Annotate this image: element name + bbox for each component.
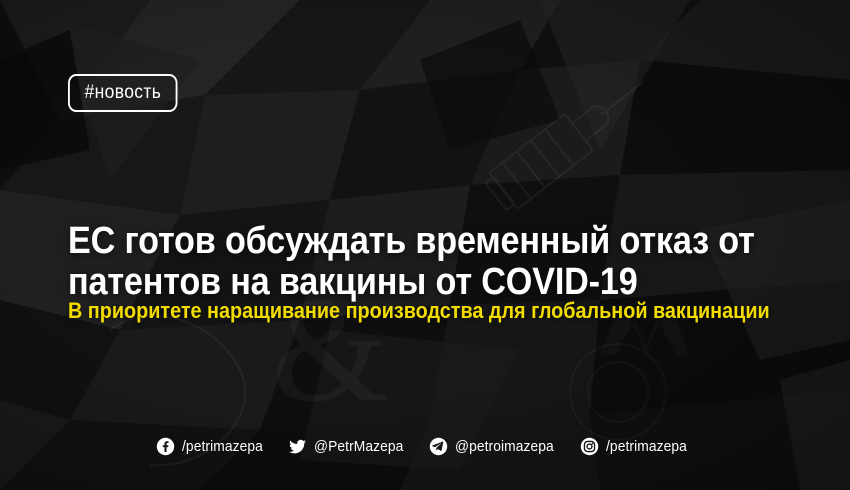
instagram-icon (580, 437, 599, 456)
subtitle: В приоритете наращивание производства дл… (68, 298, 770, 324)
social-item-facebook[interactable]: /petrimazepa (156, 437, 270, 456)
telegram-icon (429, 437, 448, 456)
social-item-telegram[interactable]: @petroimazepa (429, 437, 562, 456)
social-item-instagram[interactable]: /petrimazepa (580, 437, 694, 456)
facebook-icon (156, 437, 175, 456)
twitter-icon (288, 437, 307, 456)
social-handle-telegram: @petroimazepa (455, 438, 554, 455)
page-title: ЕС готов обсуждать временный отказ от па… (68, 221, 725, 303)
category-tag[interactable]: #новость (68, 74, 178, 112)
headline-line-1: ЕС готов обсуждать временный отказ от (68, 221, 725, 262)
social-handle-facebook: /petrimazepa (182, 438, 263, 455)
social-bar: /petrimazepa @PetrMazepa @petroimazepa /… (0, 437, 850, 456)
social-item-twitter[interactable]: @PetrMazepa (288, 437, 411, 456)
social-handle-twitter: @PetrMazepa (314, 438, 403, 455)
news-card: & #новость ЕС готов обсуждать временный … (0, 0, 850, 490)
category-tag-label: #новость (85, 82, 162, 104)
social-handle-instagram: /petrimazepa (606, 438, 687, 455)
